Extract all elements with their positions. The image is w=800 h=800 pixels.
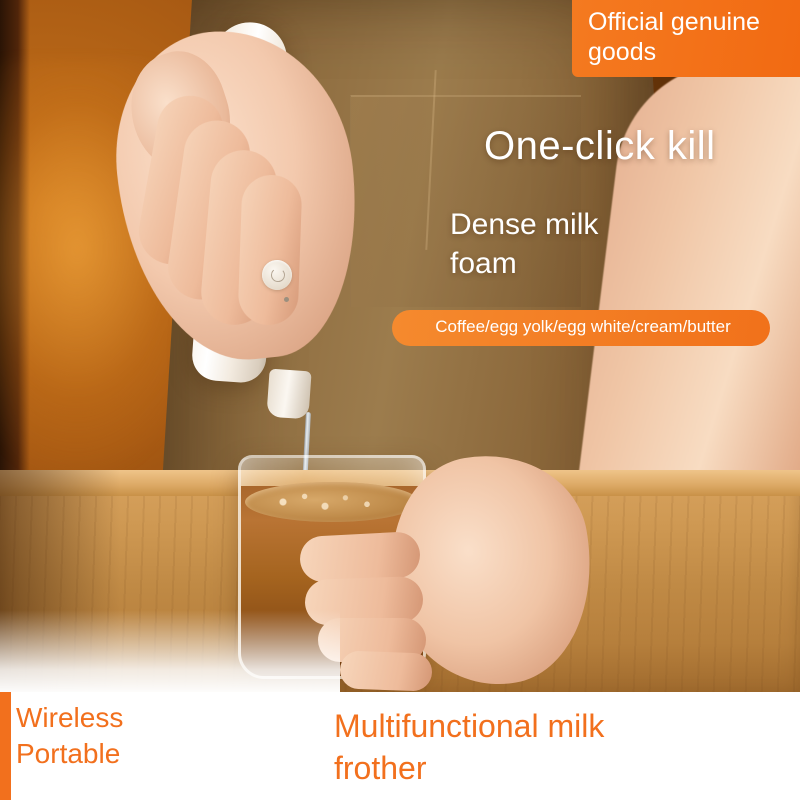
lower-finger-1 xyxy=(299,531,421,583)
product-banner: Official genuine goods One-click kill De… xyxy=(0,0,800,800)
finger-little xyxy=(237,174,302,326)
foam-bubbles xyxy=(271,488,391,516)
lower-finger-4 xyxy=(339,650,432,691)
subheadline-text: Dense milk foam xyxy=(450,205,740,283)
bottom-fade xyxy=(0,610,340,695)
headline-text: One-click kill xyxy=(484,124,715,168)
official-goods-badge: Official genuine goods xyxy=(572,0,800,77)
feature-pill: Coffee/egg yolk/egg white/cream/butter xyxy=(392,310,770,346)
bottom-accent-bar xyxy=(0,692,11,800)
milk-frother-neck xyxy=(266,369,311,420)
product-name-label: Multifunctional milk frother xyxy=(334,706,784,789)
wireless-portable-label: Wireless Portable xyxy=(16,700,216,772)
status-led-icon xyxy=(284,297,289,302)
product-photo xyxy=(0,0,800,800)
